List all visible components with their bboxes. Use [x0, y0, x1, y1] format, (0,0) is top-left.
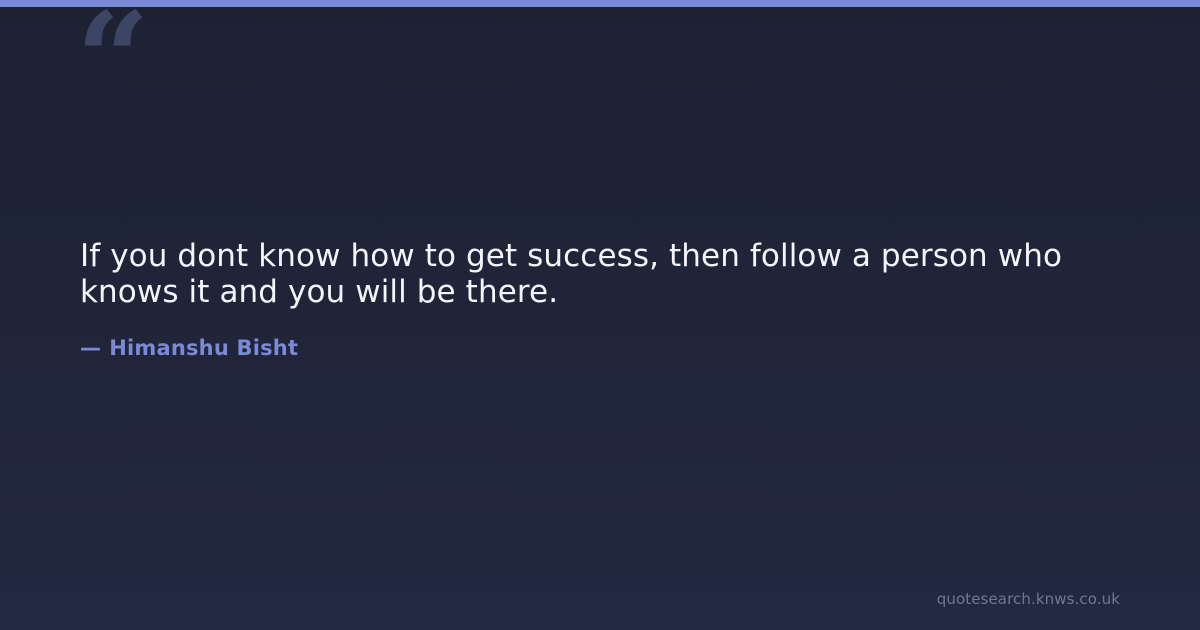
attribution-dash: — — [80, 336, 101, 360]
top-accent-bar — [0, 0, 1200, 7]
quote-attribution: —Himanshu Bisht — [80, 334, 1120, 362]
quote-card: “ If you dont know how to get success, t… — [0, 0, 1200, 630]
author-name: Himanshu Bisht — [109, 336, 298, 360]
source-watermark: quotesearch.knws.co.uk — [937, 590, 1120, 608]
quote-text: If you dont know how to get success, the… — [80, 238, 1100, 310]
open-quote-icon: “ — [76, 0, 196, 116]
quote-content: If you dont know how to get success, the… — [80, 238, 1120, 362]
